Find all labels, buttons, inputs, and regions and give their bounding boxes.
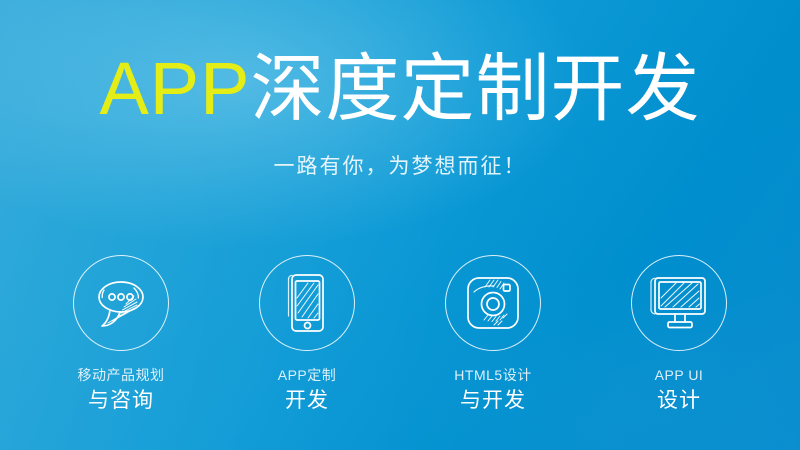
service-card-html5[interactable]: HTML5设计 与开发 <box>400 255 586 414</box>
icon-circle <box>73 255 169 351</box>
page-title: APP深度定制开发 <box>0 52 800 126</box>
camera-icon <box>463 273 523 333</box>
title-highlight: APP <box>99 47 250 130</box>
monitor-icon <box>647 274 711 332</box>
service-card-app-development[interactable]: APP定制 开发 <box>214 255 400 414</box>
service-card-consulting[interactable]: 移动产品规划 与咨询 <box>28 255 214 414</box>
card-label-bottom: 与咨询 <box>78 388 165 414</box>
icon-circle <box>631 255 727 351</box>
title-rest: 深度定制开发 <box>251 47 701 130</box>
card-labels: HTML5设计 与开发 <box>454 367 531 414</box>
card-label-bottom: 与开发 <box>454 388 531 414</box>
page-subtitle: 一路有你，为梦想而征！ <box>0 150 800 180</box>
card-label-top: 移动产品规划 <box>78 367 165 385</box>
card-labels: APP UI 设计 <box>655 367 704 414</box>
service-card-app-ui[interactable]: APP UI 设计 <box>586 255 772 414</box>
icon-circle <box>445 255 541 351</box>
speech-bubble-icon <box>90 274 152 332</box>
card-label-top: APP UI <box>655 367 704 385</box>
card-label-bottom: 设计 <box>655 388 704 414</box>
card-labels: APP定制 开发 <box>278 367 337 414</box>
service-card-list: 移动产品规划 与咨询 <box>0 255 800 435</box>
icon-circle <box>259 255 355 351</box>
promo-banner: APP深度定制开发 一路有你，为梦想而征！ <box>0 0 800 450</box>
card-label-top: HTML5设计 <box>454 367 531 385</box>
card-label-bottom: 开发 <box>278 388 337 414</box>
card-label-top: APP定制 <box>278 367 337 385</box>
card-labels: 移动产品规划 与咨询 <box>78 367 165 414</box>
smartphone-icon <box>283 272 331 334</box>
